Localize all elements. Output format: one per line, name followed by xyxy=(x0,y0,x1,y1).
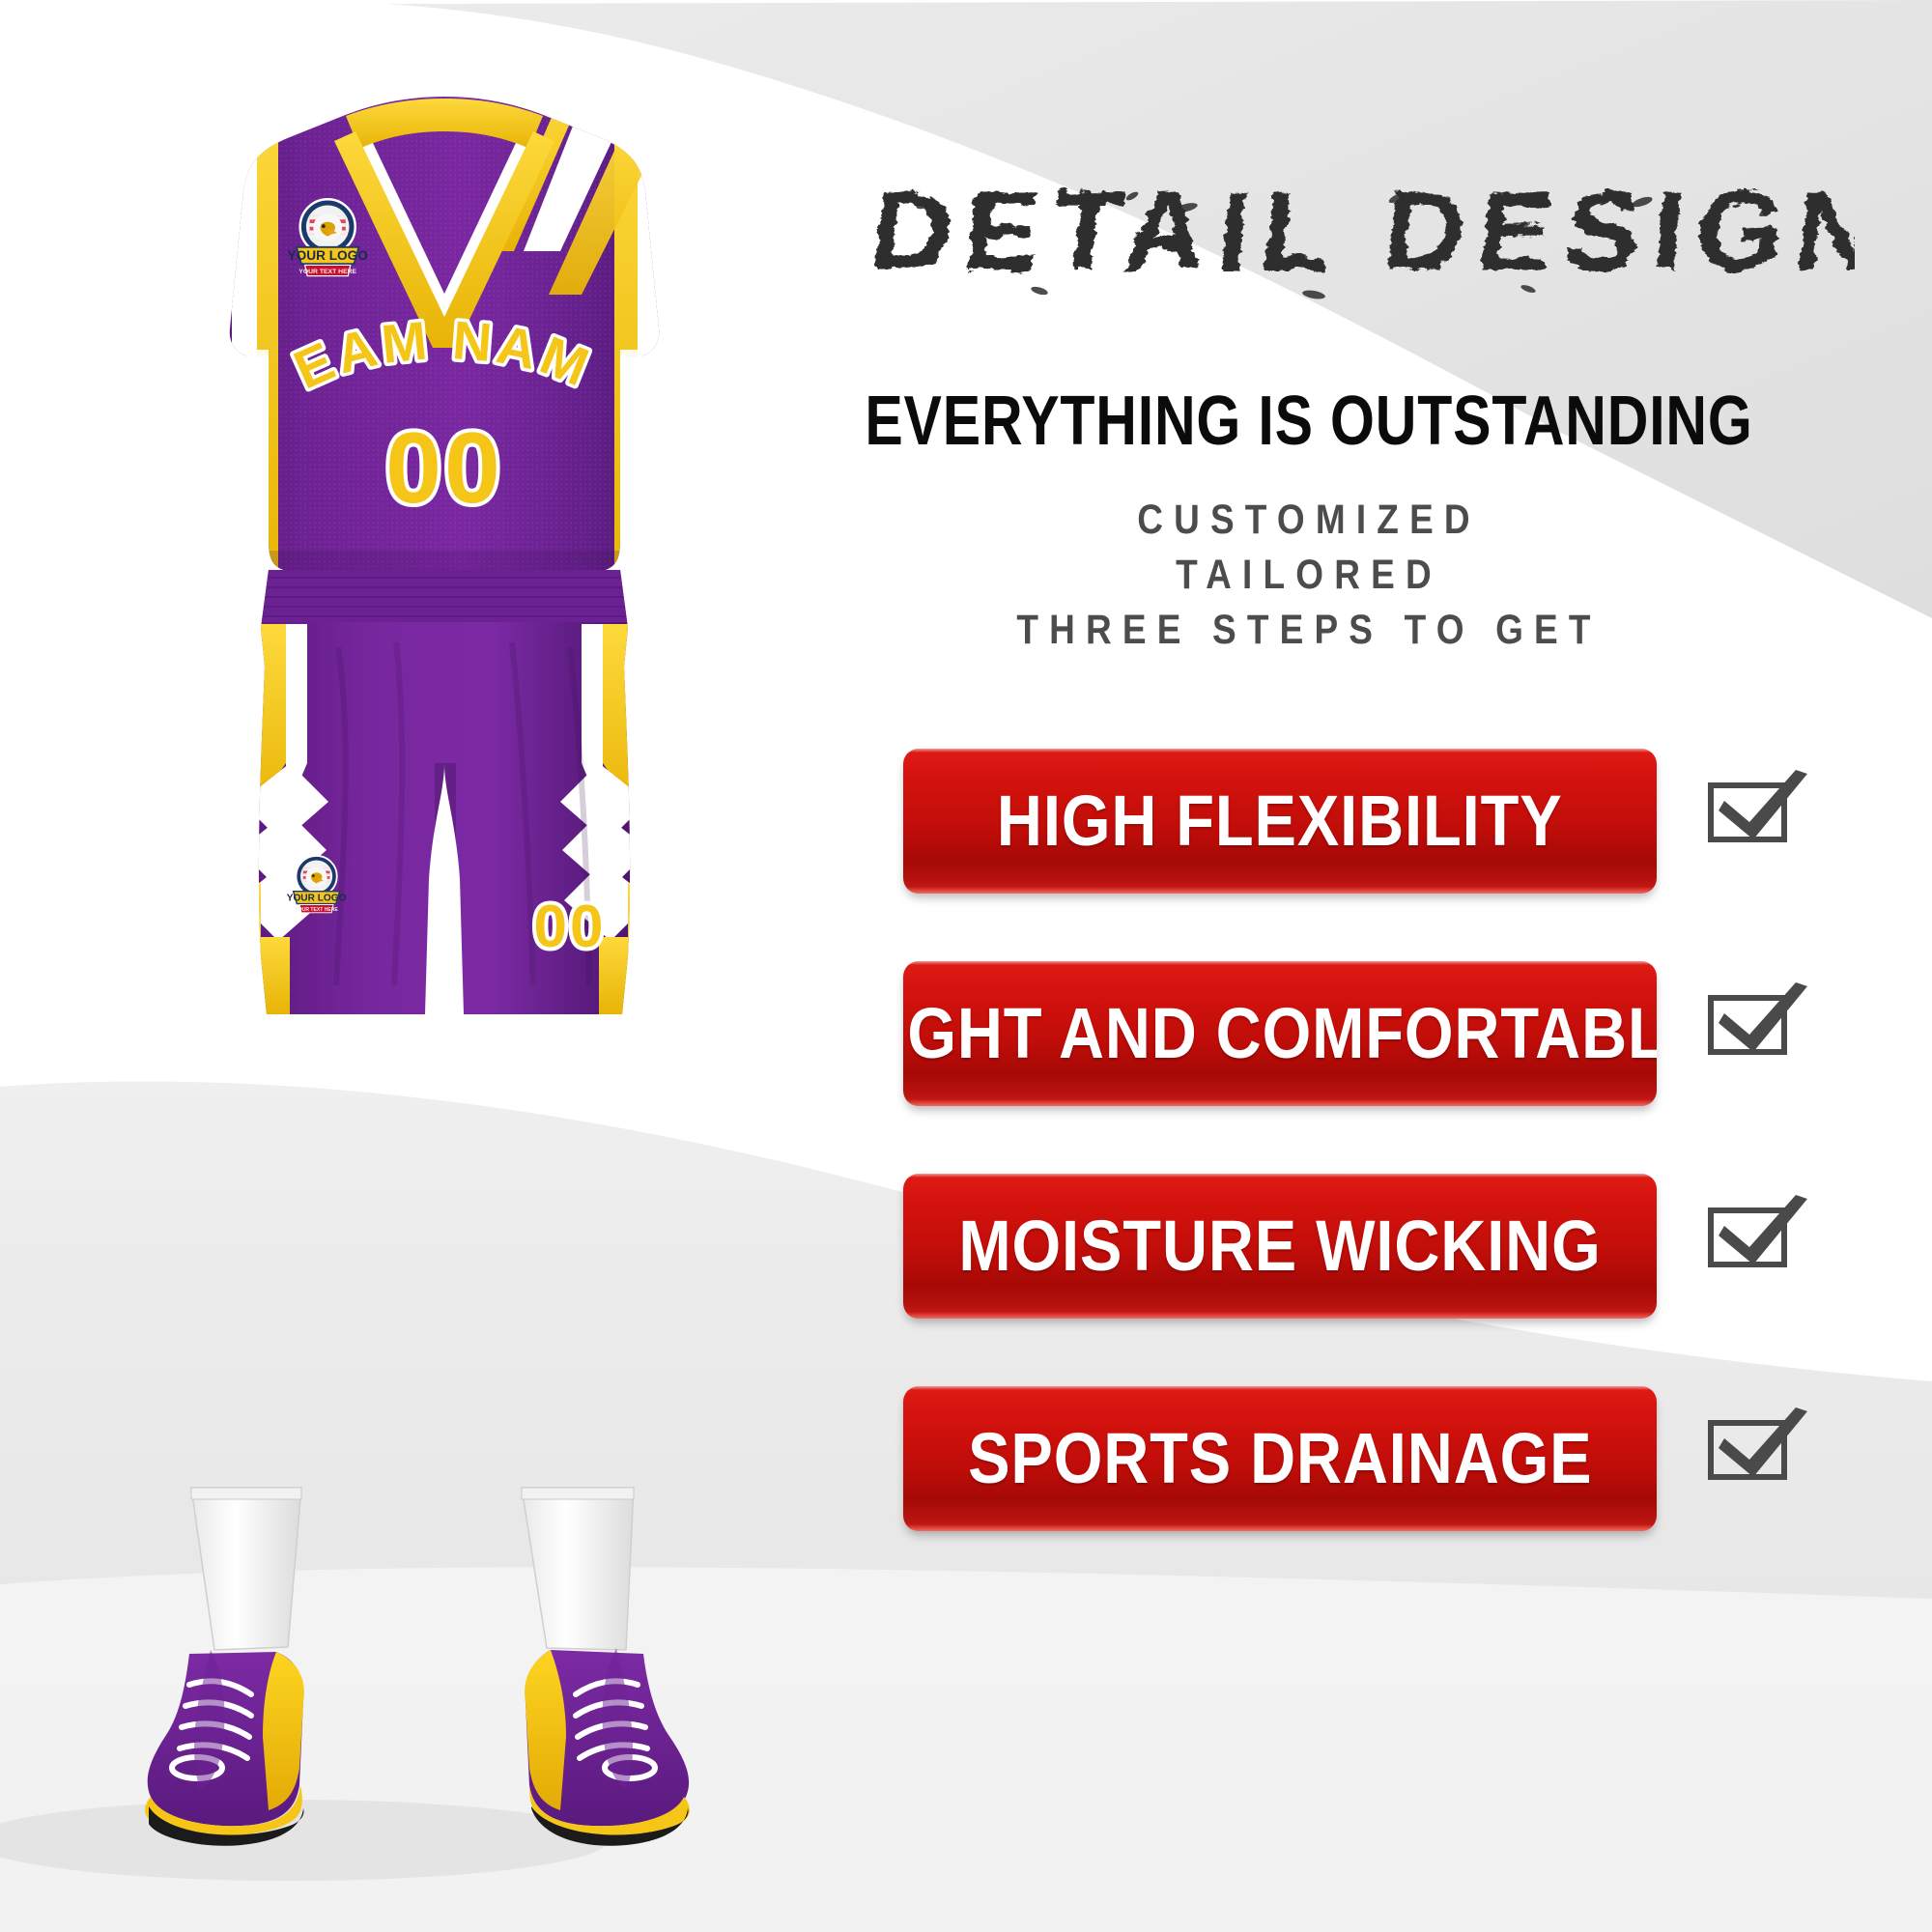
feature-row-3: MOISTURE WICKING xyxy=(903,1174,1879,1319)
checkmark-icon-4 xyxy=(1695,1396,1811,1512)
feature-banner-3[interactable]: MOISTURE WICKING xyxy=(903,1174,1657,1319)
feature-banner-4[interactable]: SPORTS DRAINAGE xyxy=(903,1386,1657,1531)
feature-banner-3-label: MOISTURE WICKING xyxy=(958,1210,1601,1282)
feature-row-2: LIGHT AND COMFORTABLE xyxy=(903,961,1879,1106)
checkmark-icon-1 xyxy=(1695,758,1811,874)
poster-canvas: YOUR LOGO YOUR TEXT HERE TEAM NAME 00 xyxy=(0,0,1932,1932)
feature-row-4: SPORTS DRAINAGE xyxy=(903,1386,1879,1531)
feature-banner-2[interactable]: LIGHT AND COMFORTABLE xyxy=(903,961,1657,1106)
feature-banner-4-label: SPORTS DRAINAGE xyxy=(968,1423,1592,1494)
feature-banner-2-label: LIGHT AND COMFORTABLE xyxy=(903,998,1657,1069)
feature-row-1: HIGH FLEXIBILITY xyxy=(903,749,1879,894)
feature-banner-1-label: HIGH FLEXIBILITY xyxy=(997,785,1563,857)
checkbox-icon-4[interactable] xyxy=(1695,1396,1811,1512)
checkmark-icon-2 xyxy=(1695,971,1811,1087)
feature-list: HIGH FLEXIBILITY LIGHT AND COMFORTABLE xyxy=(0,0,1932,1932)
checkmark-icon-3 xyxy=(1695,1183,1811,1299)
feature-banner-1[interactable]: HIGH FLEXIBILITY xyxy=(903,749,1657,894)
checkbox-icon-1[interactable] xyxy=(1695,758,1811,874)
checkbox-icon-2[interactable] xyxy=(1695,971,1811,1087)
checkbox-icon-3[interactable] xyxy=(1695,1183,1811,1299)
